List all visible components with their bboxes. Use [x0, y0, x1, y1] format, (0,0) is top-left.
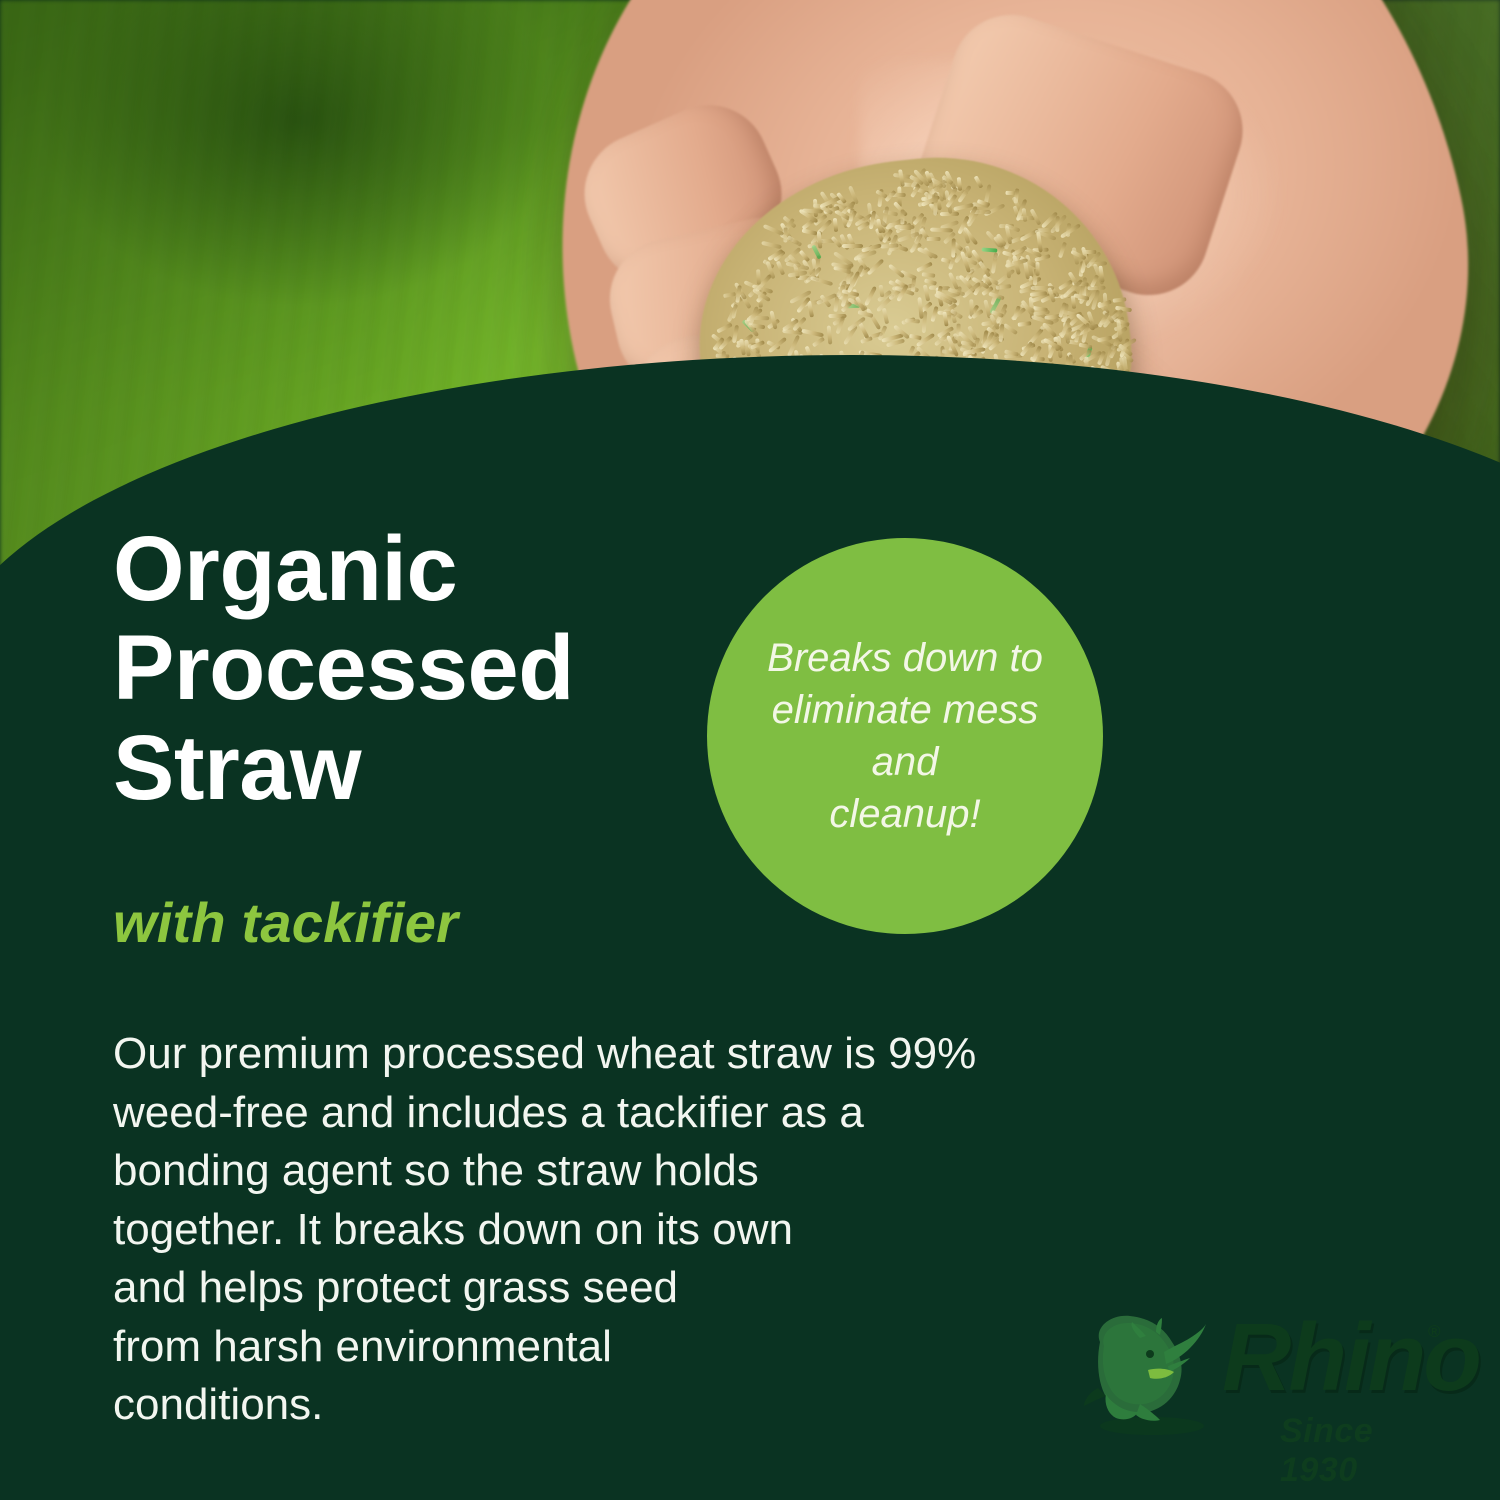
headline-line-3: Straw [113, 719, 733, 818]
headline-line-2: Processed [113, 619, 733, 718]
body-line-3: bonding agent so the straw holds [113, 1142, 1113, 1201]
brand-logo: Rhino ® Since 1930 [1080, 1300, 1450, 1465]
registered-trademark-icon: ® [1428, 1322, 1441, 1342]
product-poster: Organic Processed Straw with tackifier O… [0, 0, 1500, 1500]
logo-tagline: Since 1930 [1280, 1412, 1450, 1490]
badge-line-1: Breaks down to [740, 632, 1070, 684]
badge-text: Breaks down to eliminate mess and cleanu… [740, 632, 1070, 840]
body-line-1: Our premium processed wheat straw is 99% [113, 1025, 1113, 1084]
subtitle: with tackifier [113, 890, 458, 955]
body-line-4: together. It breaks down on its own [113, 1201, 1113, 1260]
body-line-5: and helps protect grass seed [113, 1259, 1113, 1318]
headline-line-1: Organic [113, 520, 733, 619]
rhino-mascot-icon [1080, 1308, 1230, 1438]
body-line-7: conditions. [113, 1376, 1113, 1435]
body-line-6: from harsh environmental [113, 1318, 1113, 1377]
feature-badge: Breaks down to eliminate mess and cleanu… [707, 538, 1103, 934]
body-line-2: weed-free and includes a tackifier as a [113, 1084, 1113, 1143]
body-paragraph: Our premium processed wheat straw is 99%… [113, 1025, 1113, 1435]
badge-line-2: eliminate mess and [740, 684, 1070, 788]
badge-line-3: cleanup! [740, 788, 1070, 840]
page-title: Organic Processed Straw [113, 520, 733, 818]
